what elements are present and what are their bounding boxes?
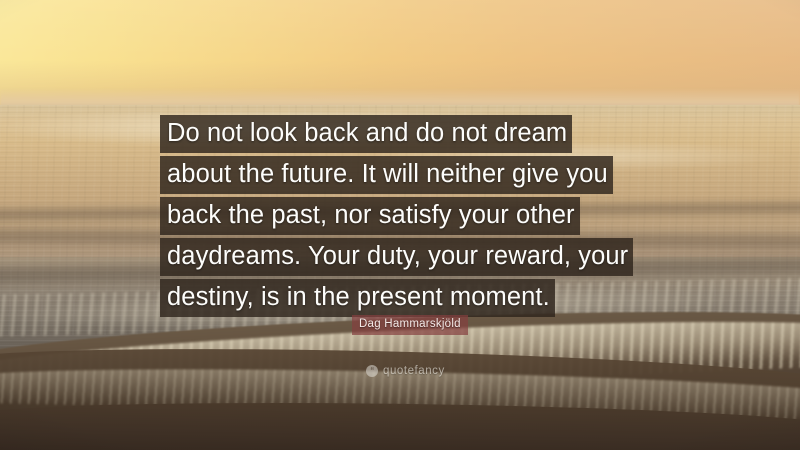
watermark-label: quotefancy xyxy=(383,365,445,377)
quote-mark-badge-icon: “ xyxy=(366,365,378,377)
quote-attribution: Dag Hammarskjöld xyxy=(352,315,468,335)
quote-line: destiny, is in the present moment. xyxy=(160,279,555,317)
quote-line: daydreams. Your duty, your reward, your xyxy=(160,238,633,276)
quote-line: Do not look back and do not dream xyxy=(160,115,572,153)
quote-wallpaper-image: Do not look back and do not dream about … xyxy=(0,0,800,450)
quote-text-block: Do not look back and do not dream about … xyxy=(160,115,660,320)
watermark: “ quotefancy xyxy=(366,365,445,377)
quote-line: about the future. It will neither give y… xyxy=(160,156,613,194)
quote-line: back the past, nor satisfy your other xyxy=(160,197,580,235)
